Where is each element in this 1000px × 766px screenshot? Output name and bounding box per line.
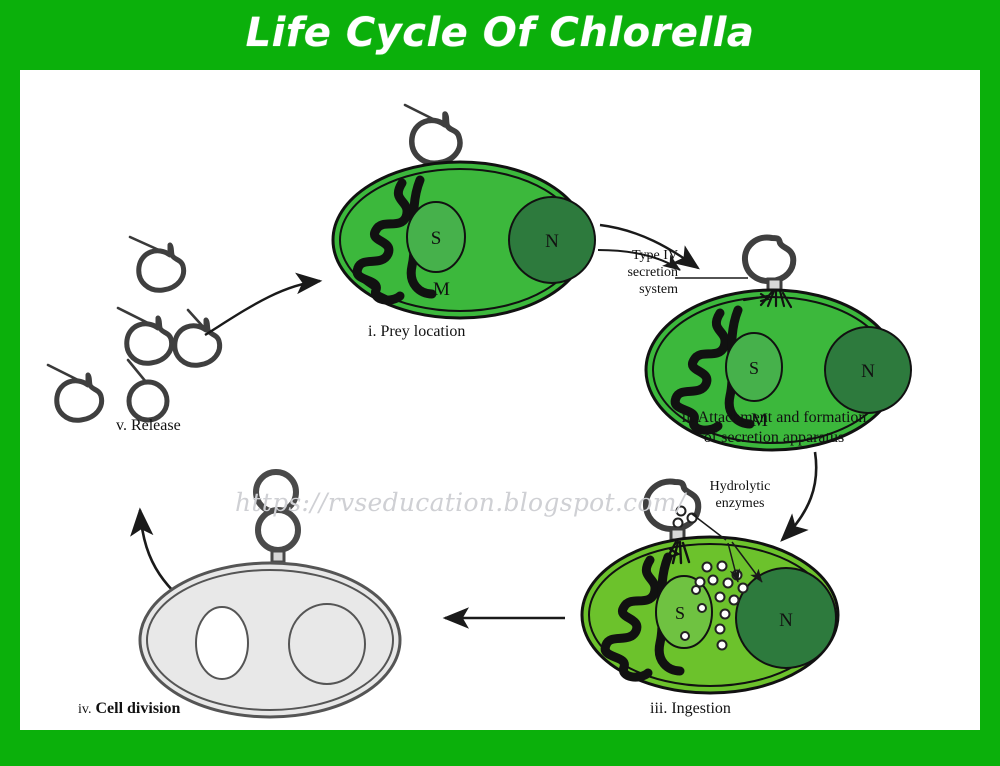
- vacuole-small: [196, 607, 248, 679]
- caption-stage-iv-numeral: iv.: [78, 702, 91, 717]
- poster-frame: Life Cycle Of Chlorella: [0, 0, 1000, 766]
- caption-stage-ii-line2: of secretion apparatus: [654, 428, 894, 448]
- caption-stage-iv-text: Cell division: [95, 700, 180, 717]
- caption-stage-ii-line1: ii. Attachment and formation: [654, 408, 894, 428]
- bacterium-attached: [745, 238, 793, 290]
- caption-stage-i: i. Prey location: [368, 323, 465, 341]
- caption-stage-ii: ii. Attachment and formation of secretio…: [654, 408, 894, 447]
- stage-i-cell-group: S N M: [333, 105, 595, 318]
- bacterium: [175, 310, 220, 365]
- caption-stage-iv: iv. Cell division: [78, 700, 180, 718]
- life-cycle-diagram: S N M: [20, 70, 980, 730]
- page-title: Life Cycle Of Chlorella: [246, 10, 755, 56]
- secretion-pilus: [768, 279, 781, 290]
- diagram-canvas: S N M: [20, 70, 980, 730]
- annotation-type-iv-secretion-system: Type IV secretion system: [592, 248, 678, 298]
- annotation-type-iv-line3: system: [592, 282, 678, 299]
- annotation-type-iv-line2: secretion: [592, 265, 678, 282]
- starch-label: S: [675, 603, 685, 623]
- bacterium: [128, 360, 167, 420]
- caption-stage-v: v. Release: [116, 417, 181, 435]
- nucleus-label: N: [779, 610, 793, 631]
- nucleus-label: N: [545, 231, 559, 252]
- nucleus-label: N: [861, 361, 875, 382]
- annotation-hydrolytic-line2: enzymes: [688, 496, 792, 513]
- vacuole-large: [289, 604, 365, 684]
- arrow-release-to-prey: [205, 281, 320, 335]
- bacterium: [130, 237, 184, 290]
- starch-label: S: [749, 358, 759, 378]
- title-bar: Life Cycle Of Chlorella: [0, 0, 1000, 66]
- annotation-hydrolytic-enzymes: Hydrolytic enzymes: [688, 479, 792, 513]
- bacterium: [48, 365, 102, 420]
- annotation-type-iv-line1: Type IV: [592, 248, 678, 265]
- membrane-label: M: [433, 279, 450, 300]
- caption-stage-iii: iii. Ingestion: [650, 700, 731, 718]
- starch-label: S: [431, 228, 442, 249]
- stage-v-release-group: [48, 237, 220, 420]
- watermark: https://rvseducation.blogspot.com/: [235, 488, 685, 517]
- bacterium: [405, 105, 460, 163]
- annotation-hydrolytic-line1: Hydrolytic: [688, 479, 792, 496]
- secretion-pilus: [272, 551, 284, 562]
- bacterium: [118, 308, 172, 363]
